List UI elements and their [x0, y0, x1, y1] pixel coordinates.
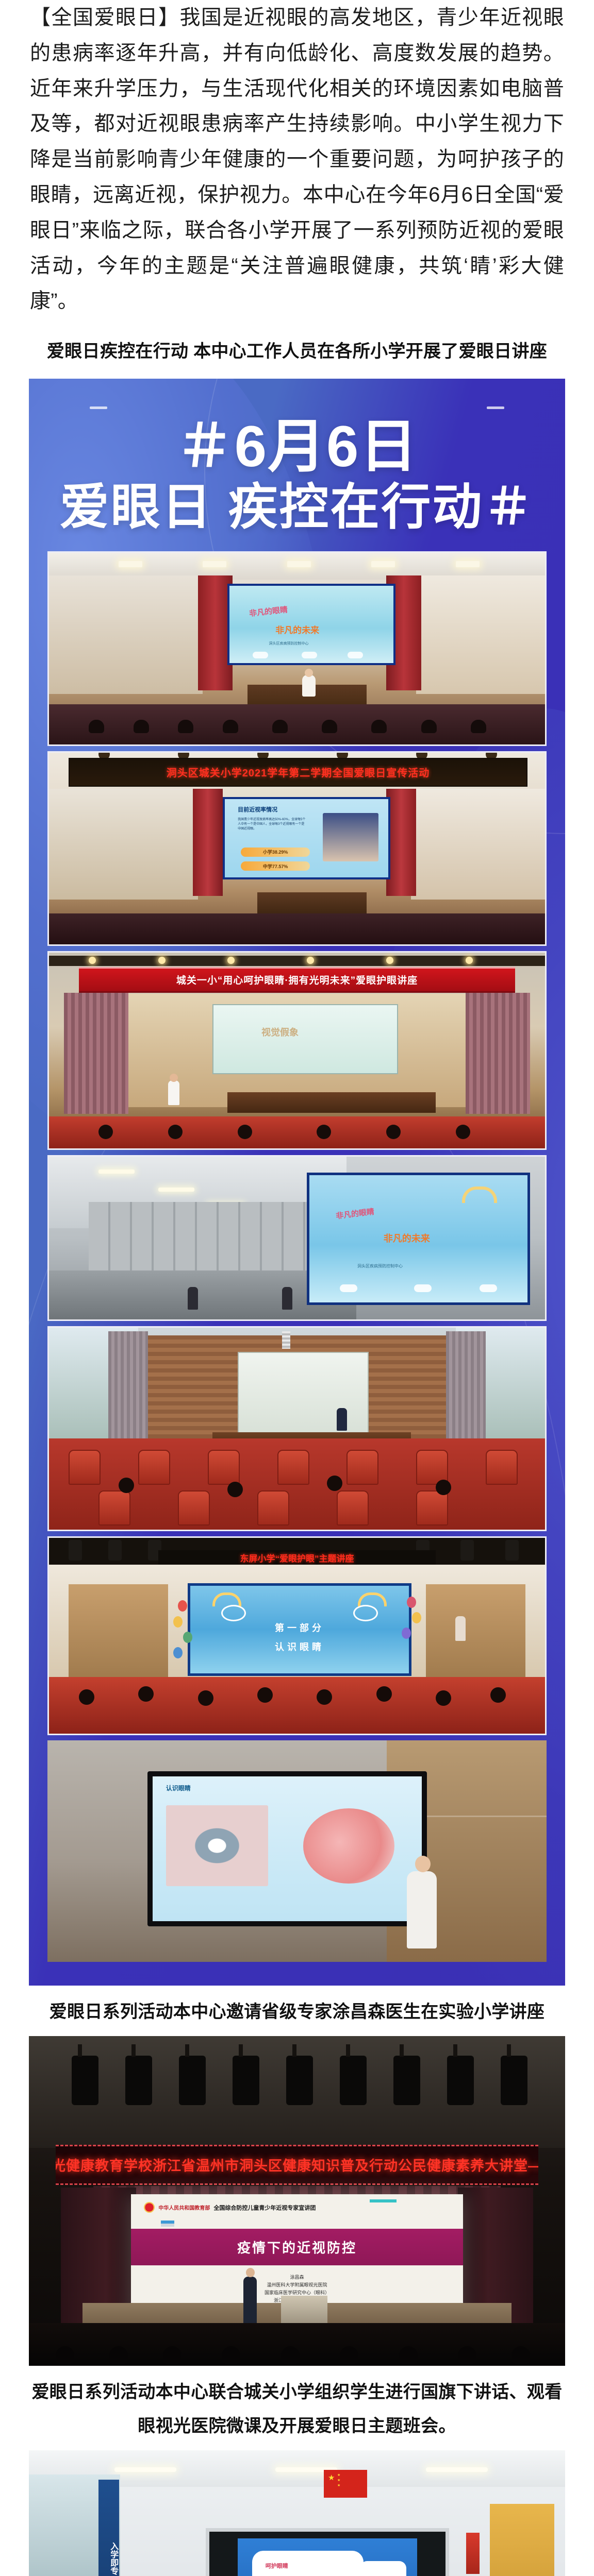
flag-star-icon: ★ — [328, 2474, 335, 2482]
red-banner-text: 城关一小“用心呵护眼睛·拥有光明未来”爱眼护眼讲座 — [176, 973, 418, 987]
slide-flag-decor — [161, 2221, 174, 2227]
slide-subtitle: 洞头区疾病预防控制中心 — [269, 641, 309, 646]
eye-icon-right — [353, 1605, 378, 1621]
caption-lecture-series: 爱眼日疾控在行动 本中心工作人员在各所小学开展了爱眼日讲座 — [0, 322, 594, 376]
photo-expert-lecture-hall: 见光健康教育学校浙江省温州市洞头区健康知识普及行动公民健康素养大讲堂—青 中华人… — [29, 2036, 565, 2366]
eye-photo — [166, 1805, 268, 1886]
display-screen: 认识眼睛 — [153, 1776, 422, 1921]
eye-icon-left — [221, 1605, 246, 1621]
caption-flag-speech-activities: 爱眼日系列活动本中心联合城关小学组织学生进行国旗下讲话、观看眼视光医院微课及开展… — [0, 2366, 594, 2451]
poster-header: ＃6月6日 爱眼日 疾控在行动＃ — [29, 379, 565, 551]
slide-org-emblem: 中华人民共和国教育部 — [158, 2204, 210, 2211]
slide-subject: 认识眼睛 — [190, 1640, 408, 1653]
blackboard: 呵护眼睛 预防近视 — [206, 2528, 449, 2576]
slide-title-2: 非凡的未来 — [384, 1231, 430, 1245]
poster-photo-5 — [47, 1326, 547, 1531]
slide-title-band: 疫情下的近视防控 — [131, 2229, 464, 2266]
stage-table — [227, 1092, 436, 1113]
slide-part: 第一部分 — [190, 1621, 408, 1634]
speaker-figure — [302, 675, 316, 697]
audience-seats — [49, 704, 545, 744]
poster-photo-6: 东屏小学“爱眼护眼”主题讲座 第一部分 认识眼睛 — [47, 1536, 547, 1735]
rainbow-icon — [462, 1187, 497, 1203]
red-banner: 城关一小“用心呵护眼睛·拥有光明未来”爱眼护眼讲座 — [79, 967, 516, 993]
slide-title: 认识眼睛 — [166, 1784, 191, 1792]
photo-corridor-screen: 非凡的眼睛 非凡的未来 洞头区疾病预防控制中心 — [49, 1157, 545, 1319]
slide-title-1: 非凡的眼睛 — [335, 1206, 375, 1222]
photo-auditorium-blue-slide: 非凡的眼睛 非凡的未来 洞头区疾病预防控制中心 — [49, 553, 545, 744]
curtain-right — [386, 789, 416, 896]
intro-paragraph: 【全国爱眼日】我国是近视眼的高发地区，青少年近视眼的患病率逐年升高，并有向低龄化… — [30, 0, 564, 319]
slide-subtitle: 洞头区疾病预防控制中心 — [357, 1263, 403, 1269]
wall-left — [49, 575, 203, 694]
eye-care-day-poster: ＃6月6日 爱眼日 疾控在行动＃ 非凡的眼睛 非凡的未来 洞头区疾 — [29, 379, 565, 1985]
photo-red-banner-lecture: 城关一小“用心呵护眼睛·拥有光明未来”爱眼护眼讲座 视觉假象 — [49, 953, 545, 1148]
wall-left — [49, 789, 198, 900]
stat-primary: 小学38.29% — [241, 848, 309, 857]
wall-right — [416, 575, 545, 694]
slide-body: 我国青少年近视发病率高达50%-60%，全球每5个人中有一个是中国人，全球每3个… — [238, 818, 306, 832]
slide-title: 视觉假象 — [261, 1025, 299, 1039]
poster-photo-4: 非凡的眼睛 非凡的未来 洞头区疾病预防控制中心 — [47, 1155, 547, 1321]
national-flag-icon: ★ ★★★ — [324, 2470, 367, 2498]
slide-org-team: 全国综合防控儿童青少年近视专家宣讲团 — [213, 2204, 316, 2212]
presenter-figure — [407, 1871, 437, 1948]
led-banner-text: 洞头区城关小学2021学年第二学期全国爱眼日宣传活动 — [167, 765, 430, 779]
poster-photo-strips: 非凡的眼睛 非凡的未来 洞头区疾病预防控制中心 — [29, 551, 565, 1962]
wall-screen: 非凡的眼睛 非凡的未来 洞头区疾病预防控制中心 — [307, 1173, 530, 1304]
wall-right — [411, 789, 545, 900]
eye-diagram — [303, 1808, 395, 1884]
slide-title-1: 非凡的眼睛 — [249, 604, 289, 619]
dash-icon-left — [90, 406, 107, 409]
poster-photo-3: 城关一小“用心呵护眼睛·拥有光明未来”爱眼护眼讲座 视觉假象 — [47, 951, 547, 1150]
door-right — [490, 2504, 554, 2576]
led-banner: 东屏小学“爱眼护眼”主题讲座 — [158, 1550, 436, 1566]
caption-expert-lecture: 爱眼日系列活动本中心邀请省级专家涂昌森医生在实验小学讲座 — [0, 1986, 594, 2036]
wall-poster — [466, 2533, 480, 2574]
screen-title-1: 呵护眼睛 — [266, 2562, 288, 2570]
photo-eye-theme-balloons: 东屏小学“爱眼护眼”主题讲座 第一部分 认识眼睛 — [49, 1538, 545, 1734]
photo-led-banner-statistics: 洞头区城关小学2021学年第二学期全国爱眼日宣传活动 目前近视率情况 我国青少年… — [49, 753, 545, 944]
nurse-illustration — [360, 2561, 406, 2576]
audience-seats — [49, 1116, 545, 1148]
speech-bubble: 呵护眼睛 预防近视 — [252, 2551, 364, 2576]
curtain-right — [466, 993, 530, 1114]
flag-small-stars-icon: ★★★ — [337, 2473, 340, 2488]
stat-secondary: 中学77.57% — [241, 861, 309, 871]
led-banner-text: 东屏小学“爱眼护眼”主题讲座 — [240, 1551, 354, 1564]
dash-icon-right — [487, 406, 504, 409]
article-intro: 【全国爱眼日】我国是近视眼的高发地区，青少年近视眼的患病率逐年升高，并有向低龄化… — [0, 0, 594, 319]
audience-seats — [49, 913, 545, 944]
curtain-left — [108, 1331, 148, 1456]
poster-title: 爱眼日 疾控在行动＃ — [29, 482, 565, 534]
slide-child-photo — [323, 813, 378, 861]
led-banner: 洞头区城关小学2021学年第二学期全国爱眼日宣传活动 — [69, 758, 527, 787]
projection-screen: 视觉假象 — [212, 1004, 398, 1074]
speaker-figure — [243, 2277, 257, 2326]
photo-red-seat-hall — [49, 1328, 545, 1530]
slide-heading: 目前近视率情况 — [238, 805, 277, 814]
photo-eye-anatomy: 认识眼睛 — [47, 1740, 547, 1962]
slide-title: 疫情下的近视防控 — [237, 2238, 357, 2257]
hall-banner: 见光健康教育学校浙江省温州市洞头区健康知识普及行动公民健康素养大讲堂—青 — [56, 2145, 538, 2185]
chandelier — [282, 1331, 290, 1349]
curtain-right — [446, 1331, 486, 1456]
poster-photo-1: 非凡的眼睛 非凡的未来 洞头区疾病预防控制中心 — [47, 551, 547, 746]
projection-screen: 呵护眼睛 预防近视 — [238, 2538, 417, 2576]
curtain-left — [64, 993, 128, 1114]
projection-screen: 目前近视率情况 我国青少年近视发病率高达50%-60%，全球每5个人中有一个是中… — [223, 797, 390, 879]
speaker-figure — [168, 1080, 179, 1105]
slide-title-2: 非凡的未来 — [275, 623, 319, 636]
projection-screen: 非凡的眼睛 非凡的未来 洞头区疾病预防控制中心 — [227, 584, 395, 665]
slide-affiliation-1: 温州医科大学附属眼视光医院 — [131, 2281, 464, 2289]
curtain-left — [193, 789, 223, 896]
projection-screen: 第一部分 认识眼睛 — [188, 1583, 411, 1676]
interactive-display: 认识眼睛 — [147, 1771, 427, 1926]
slide-header: 中华人民共和国教育部 全国综合防控儿童青少年近视专家宣讲团 — [144, 2202, 316, 2213]
poster-date: ＃6月6日 — [29, 417, 565, 476]
hall-banner-text: 见光健康教育学校浙江省温州市洞头区健康知识普及行动公民健康素养大讲堂—青 — [56, 2155, 538, 2175]
speaker-figure — [337, 1408, 347, 1431]
article-page: 【全国爱眼日】我国是近视眼的高发地区，青少年近视眼的患病率逐年升高，并有向低龄化… — [0, 0, 594, 2576]
poster-photo-2: 洞头区城关小学2021学年第二学期全国爱眼日宣传活动 目前近视率情况 我国青少年… — [47, 751, 547, 946]
audience-seats — [49, 1677, 545, 1734]
speaker-figure — [455, 1616, 466, 1641]
photo-classroom-microlesson: ★ ★★★ 入学即专 呵护眼睛 预防近视 学习是成功的基石 知识是力量的源泉 — [29, 2450, 565, 2576]
vertical-banner: 入学即专 — [98, 2480, 119, 2576]
projection-screen — [238, 1352, 369, 1439]
national-emblem-icon — [144, 2202, 155, 2213]
slide-accent-bar — [370, 2199, 397, 2202]
poster-photo-7: 认识眼睛 — [47, 1740, 547, 1962]
slide-speaker: 涂昌森 — [131, 2274, 464, 2281]
